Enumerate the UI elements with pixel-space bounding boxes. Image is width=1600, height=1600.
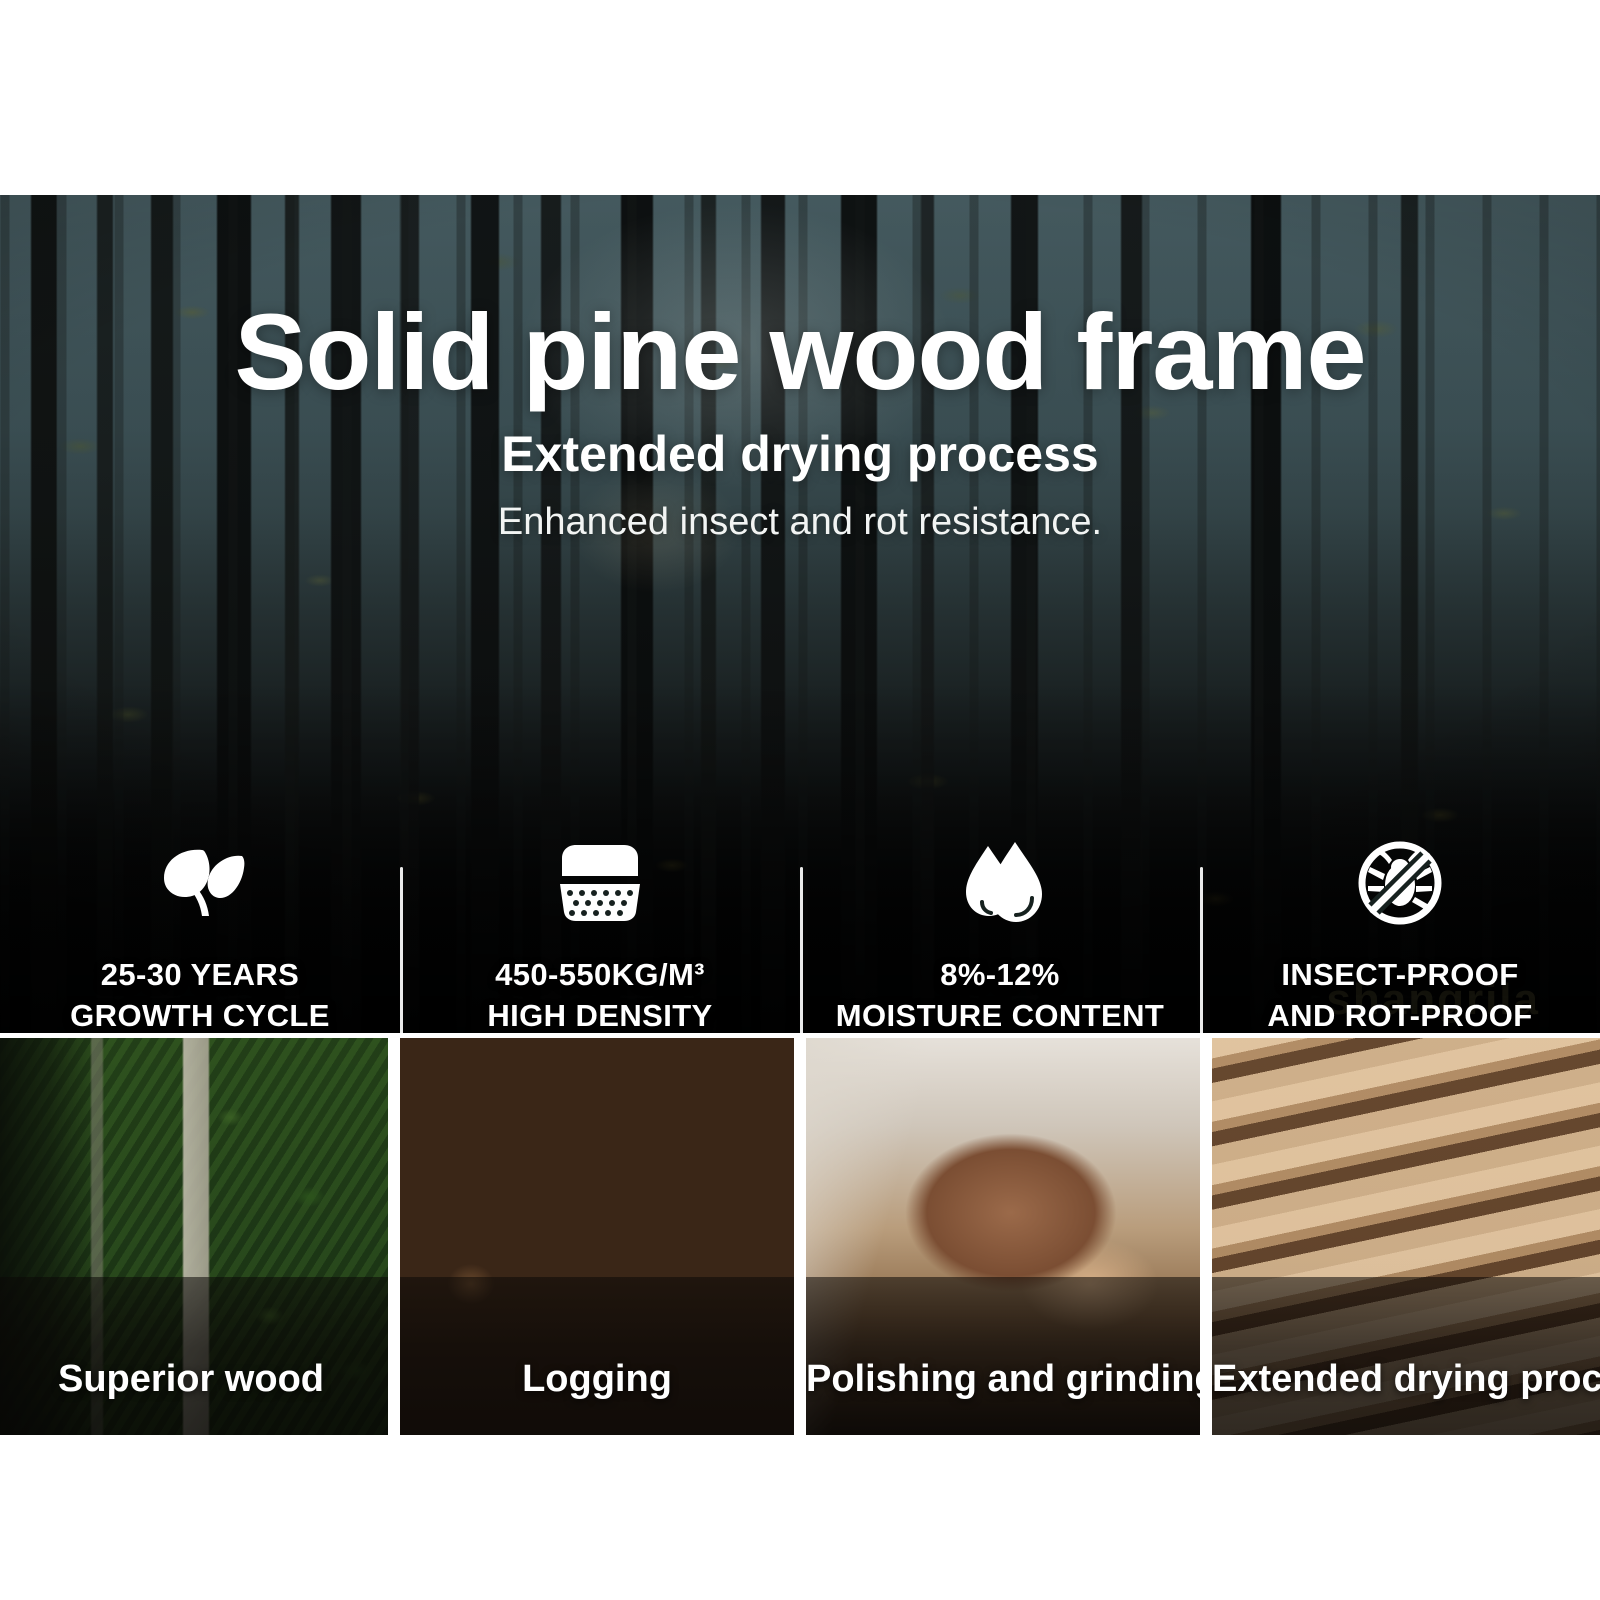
photo-caption: Superior wood <box>0 1358 388 1401</box>
process-photo-strip: Superior wood Logging Polishing and grin… <box>0 1038 1600 1435</box>
water-droplets-icon <box>952 835 1048 931</box>
feature-label: 450-550KG/M³ HIGH DENSITY <box>487 955 712 1033</box>
feature-list: 25-30 YEARS GROWTH CYCLE <box>0 835 1600 1033</box>
feature-line-1: INSECT-PROOF <box>1267 955 1532 996</box>
feature-line-2: AND ROT-PROOF <box>1267 996 1532 1033</box>
feature-growth-cycle: 25-30 YEARS GROWTH CYCLE <box>0 835 400 1033</box>
caption-overlay <box>400 1277 794 1435</box>
feature-line-1: 25-30 YEARS <box>70 955 330 996</box>
photo-card-logging[interactable]: Logging <box>400 1038 794 1435</box>
feature-label: 8%-12% MOISTURE CONTENT <box>836 955 1164 1033</box>
hero-section: shangrila Solid pine wood frame Extended… <box>0 195 1600 1033</box>
hero-copy-block: Solid pine wood frame Extended drying pr… <box>0 195 1600 544</box>
feature-label: INSECT-PROOF AND ROT-PROOF <box>1267 955 1532 1033</box>
leaf-sprout-icon <box>152 835 248 931</box>
photo-card-extended-drying[interactable]: Extended drying process <box>1212 1038 1600 1435</box>
photo-card-polishing-grinding[interactable]: Polishing and grinding <box>806 1038 1200 1435</box>
feature-line-1: 8%-12% <box>836 955 1164 996</box>
photo-caption: Polishing and grinding <box>806 1358 1200 1401</box>
hero-tagline: Enhanced insect and rot resistance. <box>0 501 1600 544</box>
hero-subtitle: Extended drying process <box>0 425 1600 483</box>
feature-line-2: MOISTURE CONTENT <box>836 996 1164 1033</box>
feature-label: 25-30 YEARS GROWTH CYCLE <box>70 955 330 1033</box>
caption-overlay <box>806 1277 1200 1435</box>
photo-card-superior-wood[interactable]: Superior wood <box>0 1038 388 1435</box>
caption-overlay <box>0 1277 388 1435</box>
hero-title: Solid pine wood frame <box>0 295 1600 409</box>
feature-line-2: GROWTH CYCLE <box>70 996 330 1033</box>
feature-high-density: 450-550KG/M³ HIGH DENSITY <box>400 835 800 1033</box>
feature-line-1: 450-550KG/M³ <box>487 955 712 996</box>
photo-caption: Logging <box>400 1358 794 1401</box>
density-block-icon <box>552 835 648 931</box>
feature-moisture-content: 8%-12% MOISTURE CONTENT <box>800 835 1200 1033</box>
no-insect-icon <box>1352 835 1448 931</box>
feature-line-2: HIGH DENSITY <box>487 996 712 1033</box>
product-feature-banner: shangrila Solid pine wood frame Extended… <box>0 0 1600 1600</box>
caption-overlay <box>1212 1277 1600 1435</box>
photo-caption: Extended drying process <box>1212 1358 1600 1401</box>
feature-insect-rot-proof: INSECT-PROOF AND ROT-PROOF <box>1200 835 1600 1033</box>
